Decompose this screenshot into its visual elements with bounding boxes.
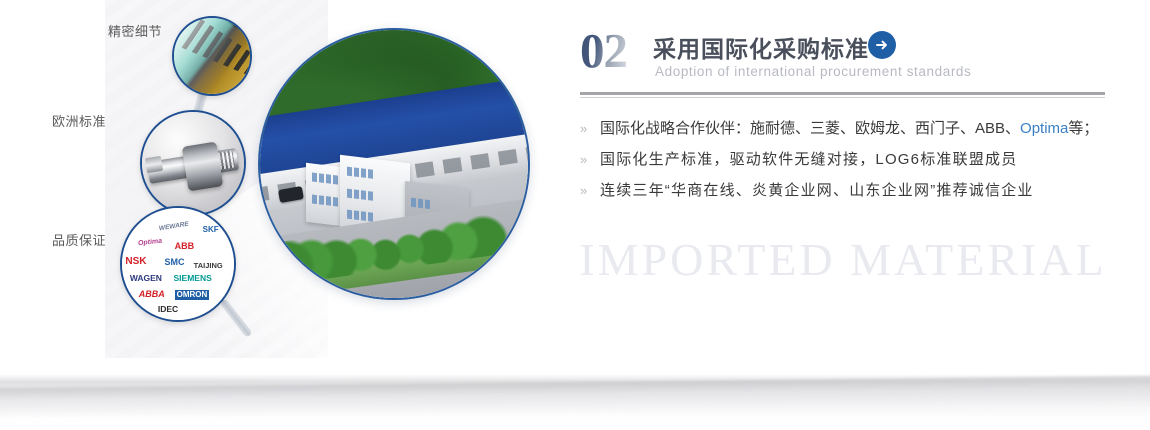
shaft-nut [182,141,223,191]
bottom-shadow-sweep [0,376,1150,419]
bullet-text: 国际化战略合作伙伴：施耐德、三菱、欧姆龙、西门子、ABB、Optima等； [600,117,1098,138]
bullet-item: »国际化生产标准，驱动软件无缝对接，LOG6标准联盟成员 [577,148,1137,179]
bullet-item: »国际化战略合作伙伴：施耐德、三菱、欧姆龙、西门子、ABB、Optima等； [577,117,1137,148]
bullet-item: »连续三年“华商在线、炎黄企业网、山东企业网”推荐诚信企业 [577,179,1137,210]
brand-logo: OMRON [175,290,210,300]
brand-logo: SIEMENS [174,274,212,283]
bullet-text: 连续三年“华商在线、炎黄企业网、山东企业网”推荐诚信企业 [600,179,1034,200]
bullet-text-pre: 连续三年“华商在线、炎黄企业网、山东企业网”推荐诚信企业 [600,182,1034,199]
bullet-text: 国际化生产标准，驱动软件无缝对接，LOG6标准联盟成员 [600,148,1017,169]
bullet-text-post: 等； [1068,120,1098,137]
brand-logo: ABB [175,242,195,251]
brand-logo: SMC [165,258,185,267]
page-subtitle: Adoption of international procurement st… [655,64,971,79]
photo-circle-gear-detail [172,16,252,96]
label-precision-details: 精密细节 [108,21,162,40]
bullet-chevron-icon: » [577,121,600,136]
brand-logo-cloud: WEWARESKFABBOptimaNSKSMCTAIJINGWAGENSIEM… [122,208,234,320]
feature-bullet-list: »国际化战略合作伙伴：施耐德、三菱、欧姆龙、西门子、ABB、Optima等；»国… [577,117,1137,210]
photo-circle-ball-screw [140,110,246,216]
photo-circle-factory-aerial [258,28,530,300]
arrow-right-icon[interactable] [868,31,896,59]
bottom-shadow-band [0,374,1150,430]
divider-line-thick [580,92,1105,95]
divider-line-thin [580,97,1105,98]
bullet-chevron-icon: » [577,152,600,167]
page-title: 采用国际化采购标准 [653,30,869,64]
bullet-text-highlight: Optima [1020,120,1068,137]
brand-logo: Optima [137,238,162,247]
brand-logo: WAGEN [130,274,162,283]
photo-circle-brand-logos: WEWARESKFABBOptimaNSKSMCTAIJINGWAGENSIEM… [120,206,236,322]
shaft-tip [145,156,164,174]
brand-logo: NSK [125,257,146,267]
brand-logo: IDEC [158,305,178,314]
bullet-chevron-icon: » [577,183,600,198]
bullet-text-pre: 国际化生产标准，驱动软件无缝对接，LOG6标准联盟成员 [600,151,1017,168]
title-divider [580,92,1105,98]
bullet-text-pre: 国际化战略合作伙伴：施耐德、三菱、欧姆龙、西门子、ABB、 [600,120,1020,137]
brand-logo: ABBA [139,290,165,299]
brand-logo: TAIJING [194,262,223,270]
label-quality-assurance: 品质保证 [52,230,106,249]
brand-logo: WEWARE [159,221,190,232]
section-number: 02 [580,22,627,79]
right-content-column: 02 采用国际化采购标准 Adoption of international p… [575,0,1150,430]
brand-logo: SKF [203,226,219,234]
watermark-text: IMPORTED MATERIAL [533,233,1150,286]
label-european-standard: 欧洲标准 [52,111,106,130]
promo-banner: WEWARESKFABBOptimaNSKSMCTAIJINGWAGENSIEM… [0,0,1150,430]
